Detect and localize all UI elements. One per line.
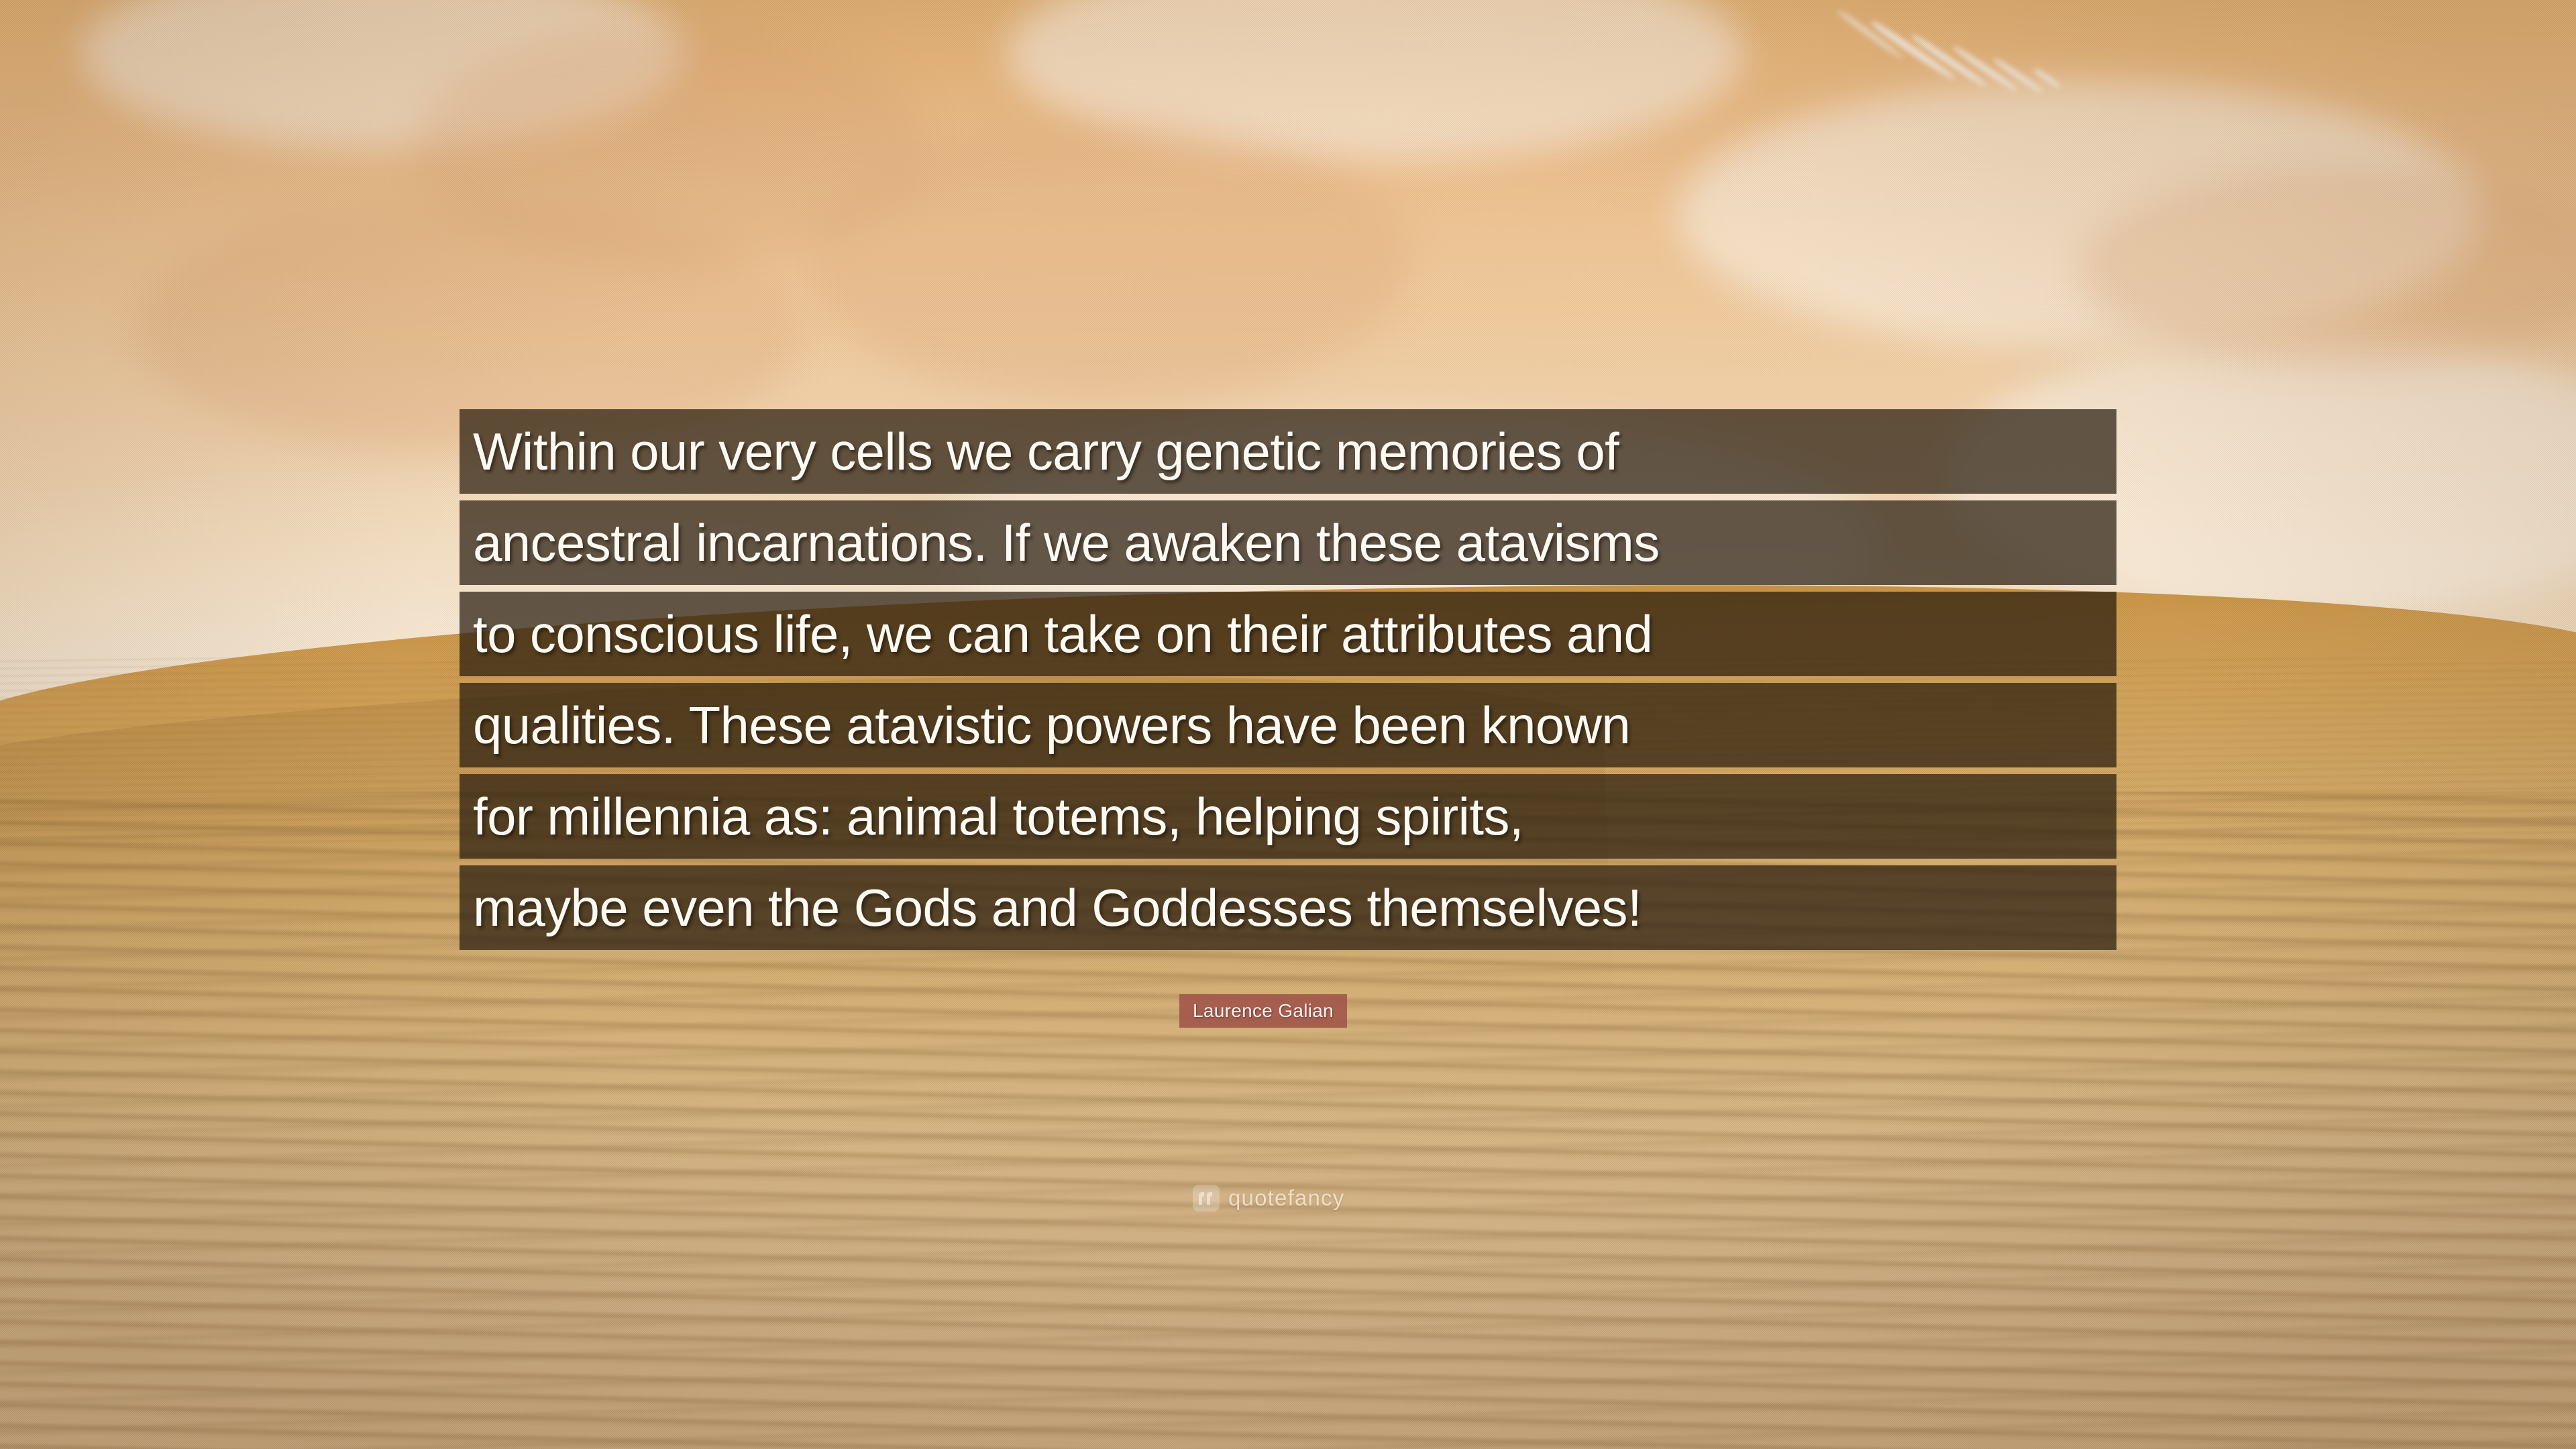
quote-text-block: Within our very cells we carry genetic m… [460,409,2116,950]
quote-line: for millennia as: animal totems, helping… [460,774,2116,859]
brand-name: quotefancy [1228,1185,1344,1211]
double-quote-icon [1193,1185,1220,1212]
quote-poster: Within our very cells we carry genetic m… [0,0,2576,1449]
quote-line: maybe even the Gods and Goddesses themse… [460,865,2116,950]
author-name: Laurence Galian [1193,1000,1334,1022]
quote-line: ancestral incarnations. If we awaken the… [460,500,2116,585]
author-attribution: Laurence Galian [1179,994,1347,1028]
quotefancy-watermark: quotefancy [1193,1185,1344,1212]
quote-line: Within our very cells we carry genetic m… [460,409,2116,494]
quote-line: to conscious life, we can take on their … [460,592,2116,676]
quote-line: qualities. These atavistic powers have b… [460,683,2116,767]
